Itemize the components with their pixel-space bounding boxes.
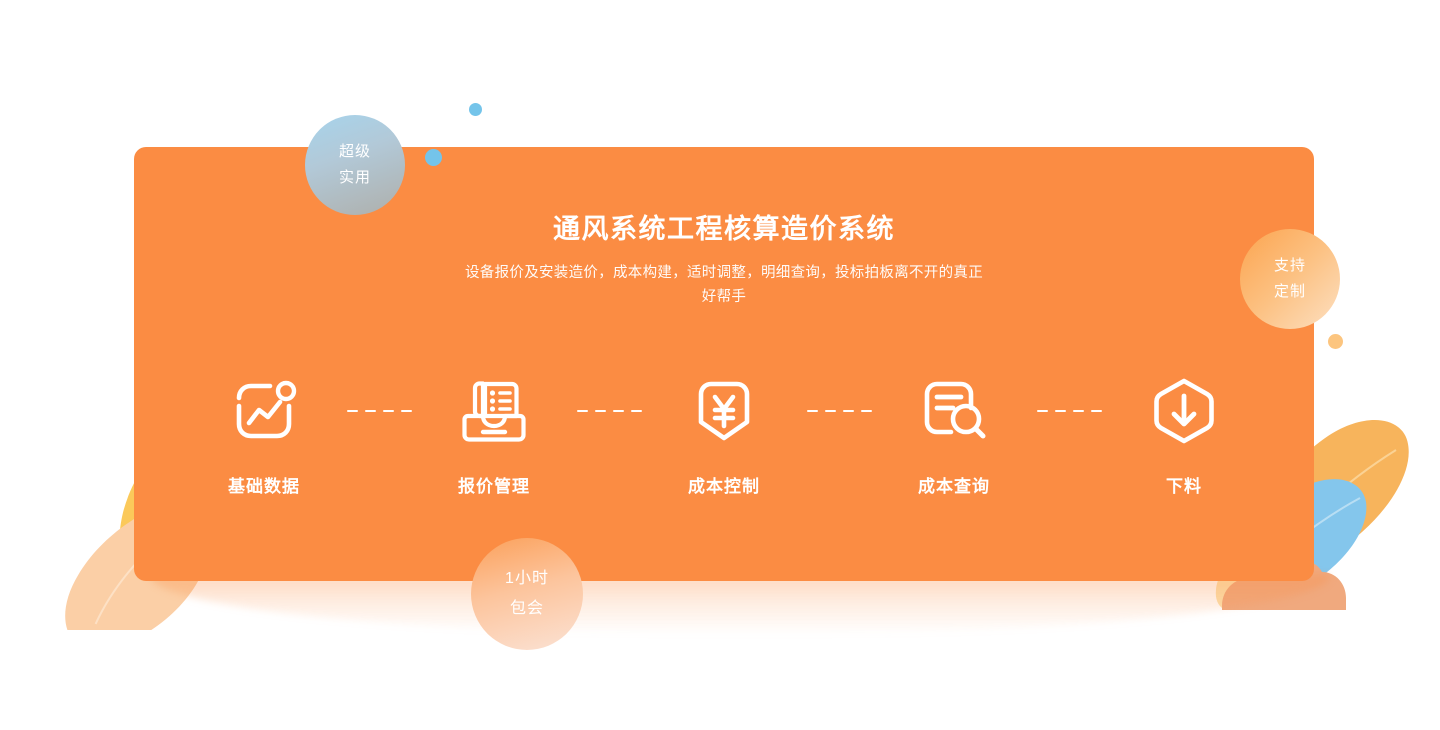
page-subtitle: 设备报价及安装造价，成本构建，适时调整，明细查询，投标拍板离不开的真正好帮手 — [464, 261, 984, 309]
badge-line-1: 超级 — [339, 139, 371, 165]
badge-one-hour-training: 1小时 包会 — [471, 538, 583, 650]
badge-line-2: 包会 — [510, 594, 544, 624]
hero-banner: 通风系统工程核算造价系统 设备报价及安装造价，成本构建，适时调整，明细查询，投标… — [0, 0, 1440, 730]
badge-support-customization: 支持 定制 — [1240, 229, 1340, 329]
yuan-tag-icon — [685, 372, 763, 450]
connector-dashes — [569, 372, 649, 450]
card-glow-shadow — [150, 575, 1330, 635]
feature-item-quotation-management[interactable]: 报价管理 — [419, 372, 569, 497]
connector-dashes — [1029, 372, 1109, 450]
badge-line-1: 1小时 — [505, 564, 549, 594]
document-search-icon — [915, 372, 993, 450]
feature-list: 基础数据 — [184, 372, 1264, 497]
orange-dot-decoration — [1328, 334, 1343, 349]
hexagon-download-icon — [1145, 372, 1223, 450]
badge-line-2: 定制 — [1274, 279, 1306, 305]
connector-dashes — [339, 372, 419, 450]
blue-dot-small-decoration — [469, 103, 482, 116]
feature-label: 成本查询 — [918, 472, 990, 497]
feature-item-cost-control[interactable]: 成本控制 — [649, 372, 799, 497]
badge-line-1: 支持 — [1274, 253, 1306, 279]
feature-label: 报价管理 — [458, 472, 530, 497]
blue-dot-large-decoration — [425, 149, 442, 166]
chart-square-icon — [225, 372, 303, 450]
feature-label: 基础数据 — [228, 472, 300, 497]
badge-super-practical: 超级 实用 — [305, 115, 405, 215]
feature-item-cost-query[interactable]: 成本查询 — [879, 372, 1029, 497]
feature-item-material-cutting[interactable]: 下料 — [1109, 372, 1259, 497]
badge-line-2: 实用 — [339, 165, 371, 191]
page-title: 通风系统工程核算造价系统 — [134, 213, 1314, 245]
feature-label: 下料 — [1166, 472, 1202, 497]
document-tray-icon — [455, 372, 533, 450]
feature-item-basic-data[interactable]: 基础数据 — [189, 372, 339, 497]
connector-dashes — [799, 372, 879, 450]
hero-card: 通风系统工程核算造价系统 设备报价及安装造价，成本构建，适时调整，明细查询，投标… — [134, 147, 1314, 581]
feature-label: 成本控制 — [688, 472, 760, 497]
